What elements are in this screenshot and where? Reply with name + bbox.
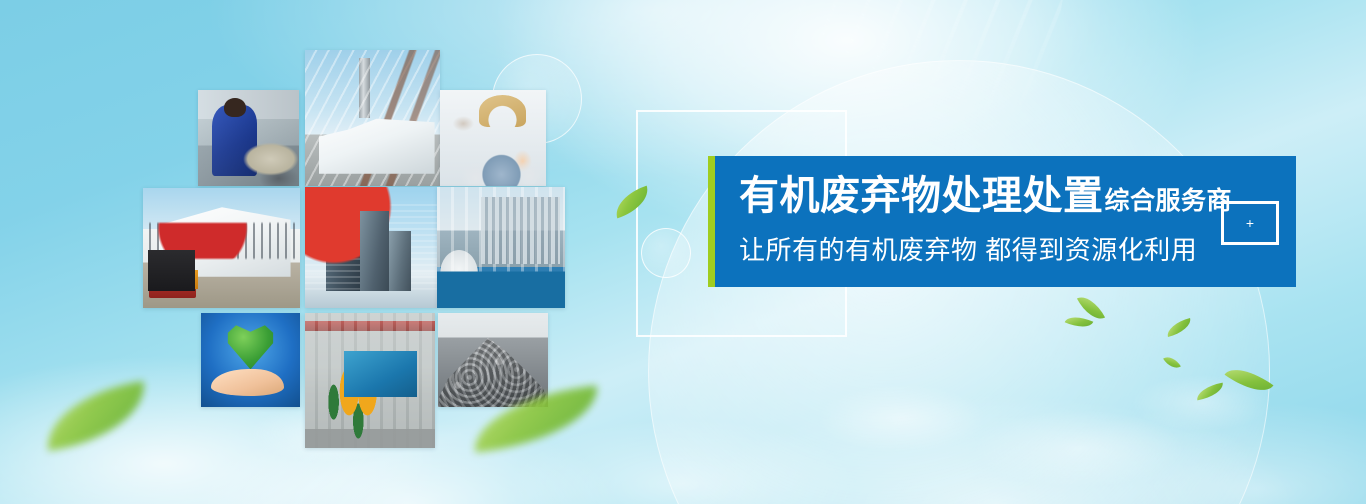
gallery-image-businesswoman-thumbs-up: [440, 90, 546, 186]
gallery-image-overlay: [198, 90, 299, 186]
banner-headline-main: 有机废弃物处理处置: [739, 176, 1104, 216]
gallery-image-grey-waste-pile: [438, 313, 548, 407]
hero-banner: 有机废弃物处理处置 综合服务商 让所有的有机废弃物 都得到资源化利用 +: [0, 0, 1366, 504]
gallery-image-overlay: [305, 50, 440, 186]
gallery-image-overlay: [437, 187, 565, 308]
banner-accent-bar: [708, 156, 715, 287]
small-circle-decor: [641, 228, 691, 278]
plus-button[interactable]: +: [1221, 201, 1279, 245]
gallery-image-recycling-machinery-hall: [305, 313, 435, 448]
banner-headline-suffix: 综合服务商: [1105, 189, 1233, 214]
gallery-image-overlay: [438, 313, 548, 407]
gallery-image-truck-detail: [149, 272, 196, 298]
gallery-image-overlay: [201, 313, 300, 407]
banner-text-block: 有机废弃物处理处置 综合服务商 让所有的有机废弃物 都得到资源化利用: [739, 156, 1232, 287]
headline-banner: 有机废弃物处理处置 综合服务商 让所有的有机废弃物 都得到资源化利用: [708, 156, 1296, 287]
gallery-image-worker-feeding-material: [198, 90, 299, 186]
gallery-image-factory-workshop-exterior: [143, 188, 300, 308]
banner-headline: 有机废弃物处理处置 综合服务商: [739, 176, 1232, 216]
gallery-image-overlay: [143, 188, 300, 308]
gallery-image-power-plant-facility: [305, 50, 440, 186]
gallery-image-overlay: [305, 313, 435, 448]
gallery-image-chemical-process-plant: [437, 187, 565, 308]
gallery-image-hand-holding-leaf-heart: [201, 313, 300, 407]
gallery-image-overlay: [305, 187, 437, 308]
banner-subhead: 让所有的有机废弃物 都得到资源化利用: [739, 230, 1232, 267]
gallery-image-overlay: [440, 90, 546, 186]
gallery-image-office-towers: [305, 187, 437, 308]
